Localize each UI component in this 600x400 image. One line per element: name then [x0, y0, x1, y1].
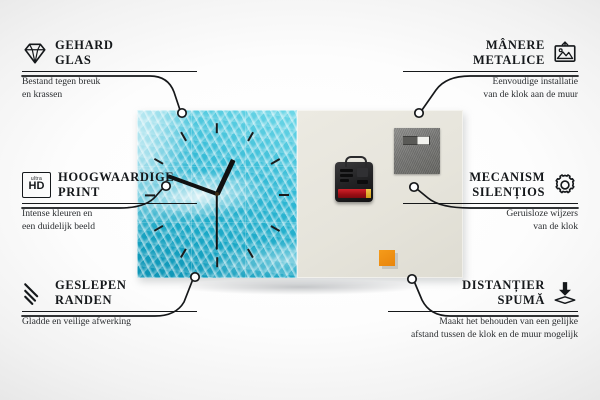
mechanism-vent — [340, 169, 353, 172]
mechanism-hanging-loop — [345, 156, 367, 167]
callout-header: DISTANȚIERSPUMĂ — [388, 278, 578, 308]
callout-hoogwaardige-print[interactable]: ultra HD HOOGWAARDIGEPRINT Intense kleur… — [22, 170, 197, 234]
callout-manere-metalice[interactable]: MÂNEREMETALICE Eenvoudige installatievan… — [403, 38, 578, 102]
clock-second-hand — [216, 194, 218, 250]
wall-mount-picture-icon — [552, 40, 578, 66]
mechanism-vent — [357, 180, 368, 184]
callout-title: GEHARDGLAS — [55, 38, 113, 68]
callout-rule — [22, 203, 197, 205]
callout-subtitle: Eenvoudige installatievan de klok aan de… — [403, 76, 578, 102]
callout-rule — [403, 203, 578, 205]
callout-mecanism-silentios[interactable]: MECANISMSILENȚIOS Geruisloze wijzersvan … — [403, 170, 578, 234]
callout-subtitle: Bestand tegen breuken krassen — [22, 76, 197, 102]
metal-hanger-plate — [394, 128, 440, 174]
callout-title: HOOGWAARDIGEPRINT — [58, 170, 174, 200]
callout-title: MECANISMSILENȚIOS — [469, 170, 545, 200]
callout-header: GESLEPENRANDEN — [22, 278, 197, 308]
callout-header: MÂNEREMETALICE — [403, 38, 578, 68]
callout-subtitle: Gladde en veilige afwerking — [22, 316, 197, 329]
callout-title: GESLEPENRANDEN — [55, 278, 127, 308]
clock-hour-mark — [216, 123, 218, 133]
clock-hour-mark — [270, 225, 280, 232]
callout-header: MECANISMSILENȚIOS — [403, 170, 578, 200]
ultra-hd-icon: ultra HD — [22, 172, 51, 198]
ultra-hd-icon-main-label: HD — [29, 181, 45, 192]
beveled-edges-icon — [22, 280, 48, 306]
callout-header: GEHARDGLAS — [22, 38, 197, 68]
diamond-icon — [22, 40, 48, 66]
clock-hour-mark — [180, 248, 187, 258]
callout-rule — [403, 71, 578, 73]
callout-geslepen-randen[interactable]: GESLEPENRANDEN Gladde en veilige afwerki… — [22, 278, 197, 329]
callout-header: ultra HD HOOGWAARDIGEPRINT — [22, 170, 197, 200]
callout-rule — [22, 311, 197, 313]
callout-subtitle: Intense kleuren eneen duidelijk beeld — [22, 208, 197, 234]
callout-subtitle: Geruisloze wijzersvan de klok — [403, 208, 578, 234]
clock-center-pin — [215, 192, 219, 196]
callout-rule — [22, 71, 197, 73]
mechanism-vent — [340, 179, 349, 182]
callout-rule — [388, 311, 578, 313]
clock-hour-mark — [279, 194, 289, 196]
battery-positive-terminal — [366, 189, 371, 198]
mechanism-panel — [357, 168, 368, 177]
battery — [338, 189, 368, 198]
clock-hour-mark — [180, 132, 187, 142]
mechanism-vent — [340, 174, 353, 177]
callout-gehard-glas[interactable]: GEHARDGLAS Bestand tegen breuken krassen — [22, 38, 197, 102]
callout-title: MÂNEREMETALICE — [473, 38, 545, 68]
clock-hour-mark — [216, 257, 218, 267]
hanger-slot — [402, 136, 430, 145]
clock-hour-mark — [154, 158, 164, 165]
clock-hour-mark — [247, 132, 254, 142]
callout-subtitle: Maakt het behouden van een gelijkeafstan… — [388, 316, 578, 342]
callout-distantier-spuma[interactable]: DISTANȚIERSPUMĂ Maakt het behouden van e… — [388, 278, 578, 342]
gear-icon — [552, 172, 578, 198]
infographic-canvas: GEHARDGLAS Bestand tegen breuken krassen… — [0, 0, 600, 400]
foam-spacer-pad — [379, 250, 395, 266]
clock-hour-mark — [270, 158, 280, 165]
clock-hour-hand — [215, 159, 235, 195]
clock-mechanism-box — [335, 162, 373, 202]
callout-title: DISTANȚIERSPUMĂ — [462, 278, 545, 308]
clock-hour-mark — [247, 248, 254, 258]
foam-spacer-arrow-icon — [552, 280, 578, 306]
